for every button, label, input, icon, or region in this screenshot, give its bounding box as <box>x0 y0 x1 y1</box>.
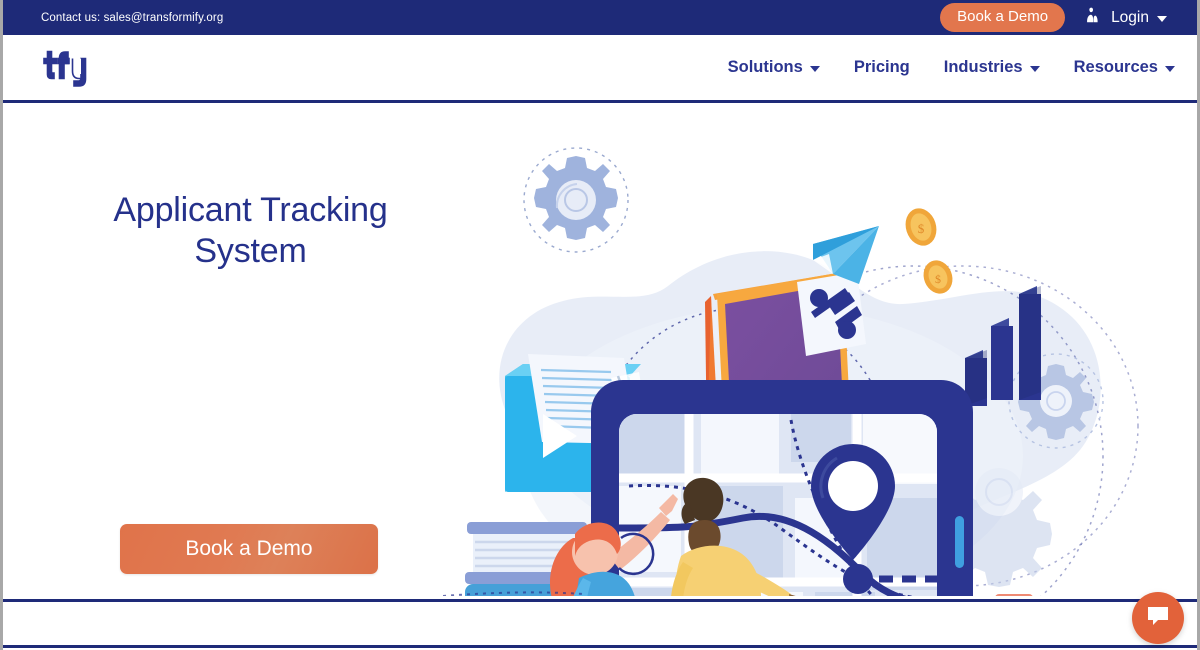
chat-widget-button[interactable] <box>1132 592 1184 644</box>
topbar-book-a-demo-button[interactable]: Book a Demo <box>940 3 1065 31</box>
gear-icon-left <box>524 148 628 252</box>
svg-text:$: $ <box>918 221 925 236</box>
nav-item-label: Solutions <box>728 58 803 77</box>
nav-links: Solutions Pricing Industries Resources <box>728 58 1175 77</box>
login-menu[interactable]: Login <box>1083 5 1167 30</box>
contact-email-text: Contact us: sales@transformify.org <box>41 12 223 24</box>
main-navbar: Solutions Pricing Industries Resources <box>3 35 1197 103</box>
page-title: Applicant Tracking System <box>63 190 438 273</box>
page-root: Contact us: sales@transformify.org Book … <box>0 0 1200 650</box>
hero-copy: Applicant Tracking System <box>63 190 438 273</box>
chevron-down-icon <box>1165 66 1175 72</box>
nav-item-resources[interactable]: Resources <box>1074 58 1175 77</box>
chevron-down-icon <box>1157 16 1167 22</box>
footer-divider-bottom <box>3 645 1197 648</box>
nav-item-pricing[interactable]: Pricing <box>854 58 910 77</box>
topbar-actions: Book a Demo Login <box>940 3 1189 31</box>
tablet-device <box>591 380 973 596</box>
coin-icons: $ $ <box>901 204 957 298</box>
hero-section: Applicant Tracking System Book a Demo <box>3 106 1197 600</box>
utility-topbar: Contact us: sales@transformify.org Book … <box>3 0 1197 35</box>
hero-book-a-demo-button[interactable]: Book a Demo <box>120 524 378 574</box>
applicant-tracking-illustration: $ $ <box>443 126 1143 596</box>
login-label: Login <box>1111 9 1149 27</box>
nav-item-label: Pricing <box>854 58 910 77</box>
transformify-logo[interactable] <box>41 45 97 91</box>
chevron-down-icon <box>1030 66 1040 72</box>
user-icon <box>1083 5 1104 30</box>
nav-item-industries[interactable]: Industries <box>944 58 1040 77</box>
chat-bubble-icon <box>1145 604 1171 633</box>
nav-item-label: Resources <box>1074 58 1158 77</box>
chevron-down-icon <box>810 66 820 72</box>
footer-divider-top <box>3 599 1197 602</box>
nav-item-solutions[interactable]: Solutions <box>728 58 820 77</box>
svg-text:$: $ <box>935 272 941 286</box>
nav-item-label: Industries <box>944 58 1023 77</box>
